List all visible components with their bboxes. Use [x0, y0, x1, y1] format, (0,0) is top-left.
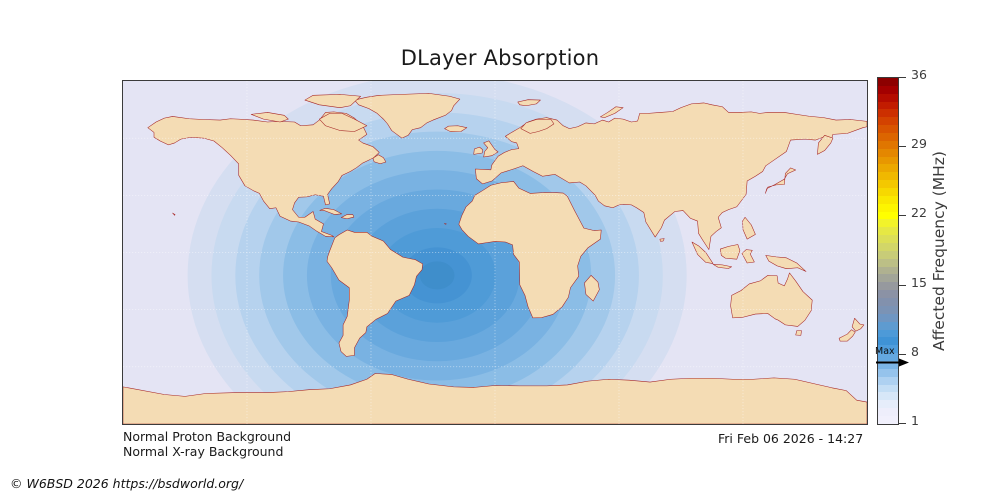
credit-line: © W6BSD 2026 https://bsdworld.org/: [10, 476, 243, 491]
colorbar-segment: [878, 282, 898, 290]
colorbar-segment: [878, 251, 898, 259]
colorbar-segment: [878, 322, 898, 330]
colorbar-segment: [878, 274, 898, 282]
colorbar-gradient: [877, 77, 899, 425]
colorbar-segment: [878, 298, 898, 306]
colorbar-segment: [878, 416, 898, 424]
colorbar: 3629221581 Max: [877, 77, 899, 425]
map-canvas: [123, 81, 867, 424]
colorbar-segment: [878, 306, 898, 314]
xray-background-note: Normal X-ray Background: [123, 444, 291, 459]
colorbar-segment: [878, 219, 898, 227]
landmass-tasmania: [796, 331, 802, 336]
colorbar-segment: [878, 196, 898, 204]
colorbar-axis-label: Affected Frequency (MHz): [928, 77, 950, 425]
colorbar-segment: [878, 330, 898, 338]
colorbar-segment: [878, 141, 898, 149]
colorbar-segment: [878, 149, 898, 157]
colorbar-segment: [878, 400, 898, 408]
world-map: [122, 80, 868, 425]
proton-background-note: Normal Proton Background: [123, 429, 291, 444]
colorbar-segment: [878, 377, 898, 385]
colorbar-segment: [878, 369, 898, 377]
colorbar-segment: [878, 157, 898, 165]
colorbar-segment: [878, 227, 898, 235]
colorbar-segment: [878, 164, 898, 172]
background-notes: Normal Proton Background Normal X-ray Ba…: [123, 429, 291, 459]
colorbar-tick-label: 29: [911, 138, 927, 151]
colorbar-segment: [878, 392, 898, 400]
timestamp: Fri Feb 06 2026 - 14:27: [718, 431, 863, 446]
colorbar-segment: [878, 109, 898, 117]
colorbar-segment: [878, 243, 898, 251]
colorbar-segment: [878, 267, 898, 275]
colorbar-segment: [878, 408, 898, 416]
colorbar-segment: [878, 204, 898, 212]
max-marker: Max: [875, 347, 921, 369]
absorption-contour-band: [420, 261, 455, 289]
colorbar-segment: [878, 188, 898, 196]
colorbar-segment: [878, 125, 898, 133]
colorbar-segment: [878, 385, 898, 393]
colorbar-segment: [878, 314, 898, 322]
colorbar-segment: [878, 133, 898, 141]
page-title: DLayer Absorption: [0, 46, 1000, 70]
colorbar-segment: [878, 235, 898, 243]
colorbar-segment: [878, 180, 898, 188]
colorbar-segment: [878, 78, 898, 86]
colorbar-segment: [878, 212, 898, 220]
colorbar-segment: [878, 337, 898, 345]
colorbar-segment: [878, 290, 898, 298]
max-arrow-icon: [875, 358, 909, 367]
colorbar-tick-label: 1: [911, 415, 919, 428]
colorbar-tick-label: 22: [911, 207, 927, 220]
colorbar-tick-label: 36: [911, 69, 927, 82]
max-marker-label: Max: [875, 347, 895, 357]
colorbar-segment: [878, 94, 898, 102]
colorbar-segment: [878, 117, 898, 125]
colorbar-segment: [878, 259, 898, 267]
colorbar-segment: [878, 86, 898, 94]
colorbar-segment: [878, 172, 898, 180]
colorbar-tick-label: 15: [911, 277, 927, 290]
colorbar-segment: [878, 102, 898, 110]
